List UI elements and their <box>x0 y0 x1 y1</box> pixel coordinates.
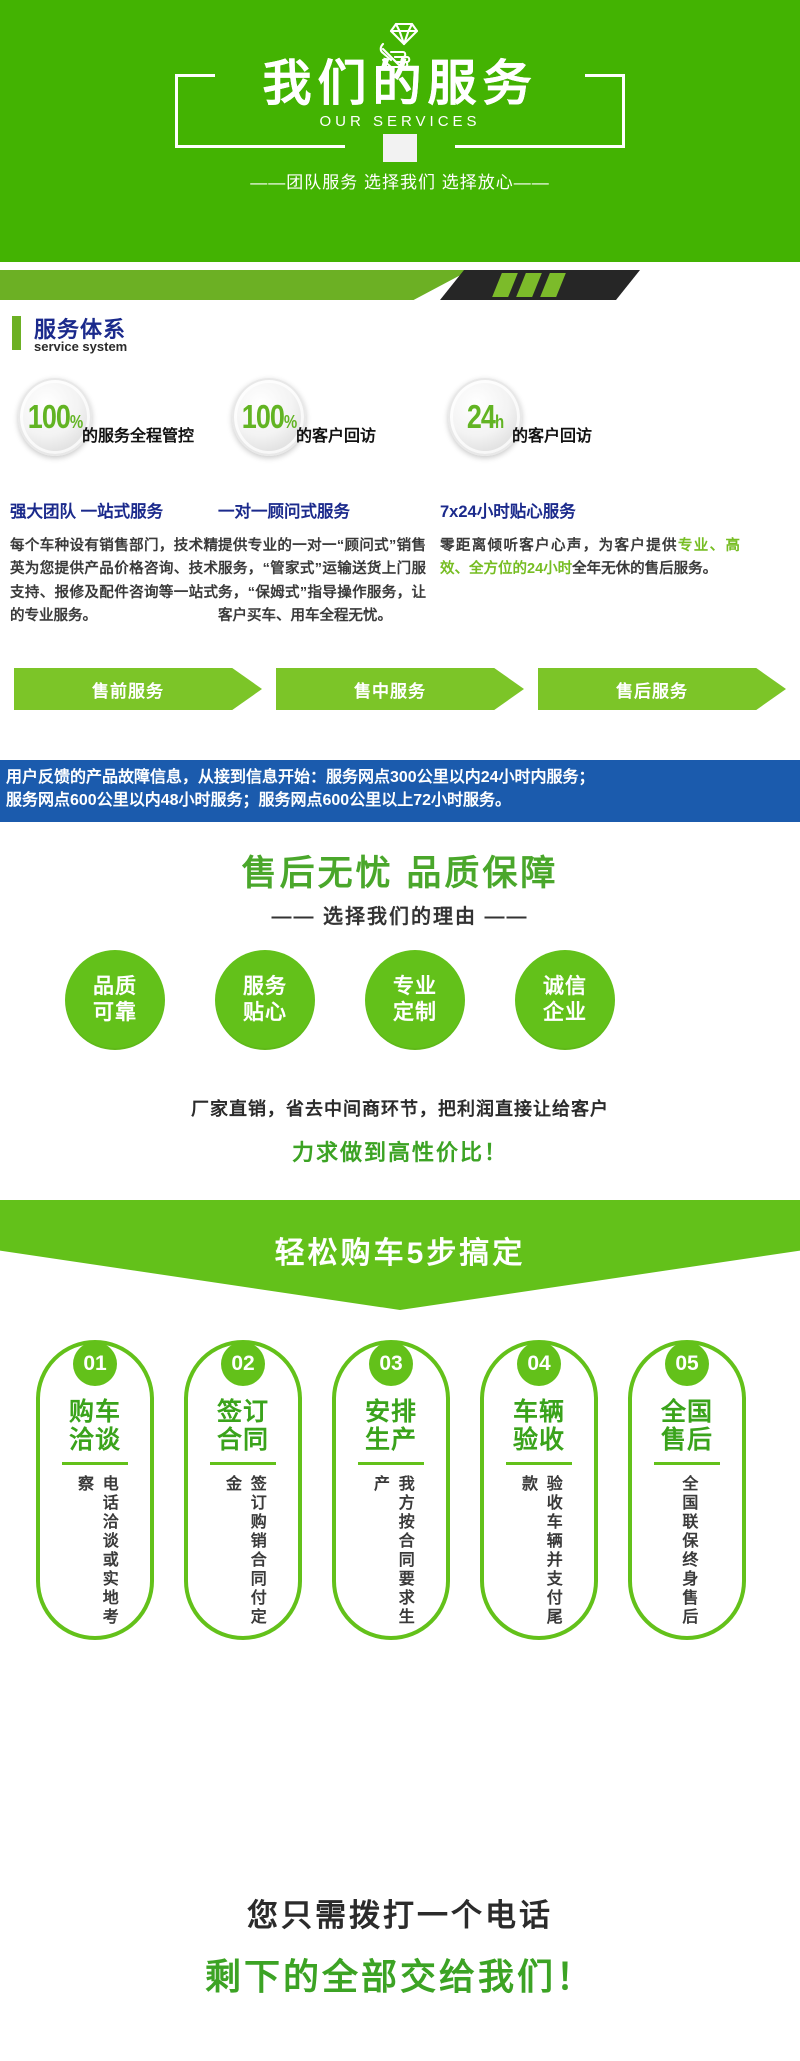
step-number: 04 <box>517 1342 561 1386</box>
step-title: 签订合同 <box>217 1398 269 1454</box>
section-accent-bar <box>12 316 21 350</box>
badge-label: 的客户回访 <box>296 422 376 446</box>
badge-row: 100% 的服务全程管控 100% 的客户回访 24h 的客户回访 <box>0 378 800 468</box>
reason-line-2: 企业 <box>543 1000 587 1026</box>
arrow-ribbon-row: 售前服务 售中服务 售后服务 <box>0 668 800 710</box>
ribbon-label: 售后服务 <box>616 677 688 702</box>
reason-line-1: 诚信 <box>543 974 587 1000</box>
step-pill-03[interactable]: 03 安排生产 我方按合同要求生产 <box>332 1340 450 1640</box>
step-title: 车辆验收 <box>513 1398 565 1454</box>
reason-line-2: 贴心 <box>243 1000 287 1026</box>
step-description: 签订购销合同付定金 <box>218 1475 268 1636</box>
factory-direct-line: 厂家直销，省去中间商环节，把利润直接让给客户 <box>0 1095 800 1121</box>
service-column: 一对一顾问式服务 提供专业的一对一“顾问式”销售服务，“管家式”运输送货上门服务… <box>218 498 426 629</box>
hero-title: 我们的服务 <box>0 60 800 109</box>
reason-circle-row: 品质 可靠 服务 贴心 专业 定制 诚信 企业 <box>0 950 800 1050</box>
step-description: 电话洽谈或实地考察 <box>70 1475 120 1636</box>
column-title: 一对一顾问式服务 <box>218 498 426 522</box>
step-number: 02 <box>221 1342 265 1386</box>
band-line-1: 用户反馈的产品故障信息，从接到信息开始：服务网点300公里以内24小时内服务； <box>6 767 794 790</box>
step-pill-row: 01 购车洽谈 电话洽谈或实地考察 02 签订合同 签订购销合同付定金 03 安… <box>0 1340 800 1810</box>
step-description: 全国联保终身售后 <box>675 1475 700 1627</box>
badge-circle: 100% <box>232 378 306 456</box>
step-pill-01[interactable]: 01 购车洽谈 电话洽谈或实地考察 <box>36 1340 154 1640</box>
step-number: 01 <box>73 1342 117 1386</box>
column-title: 7x24小时贴心服务 <box>440 498 740 522</box>
step-pill-05[interactable]: 05 全国售后 全国联保终身售后 <box>628 1340 746 1640</box>
step-divider <box>62 1462 128 1465</box>
step-number: 05 <box>665 1342 709 1386</box>
reason-line-2: 可靠 <box>93 1000 137 1026</box>
badge-number: 100% <box>28 400 82 434</box>
step-divider <box>506 1462 572 1465</box>
hero-subtitle: OUR SERVICES <box>0 113 800 130</box>
step-divider <box>358 1462 424 1465</box>
section-title-en: service system <box>34 339 127 354</box>
badge-label: 的服务全程管控 <box>82 422 194 446</box>
body-text: 全年无休的售后服务。 <box>572 561 717 577</box>
angled-divider <box>0 262 800 310</box>
reason-circle: 诚信 企业 <box>515 950 615 1050</box>
hero-slogan: ——团队服务 选择我们 选择放心—— <box>0 168 800 193</box>
column-body: 每个车种设有销售部门，技术精英为您提供产品价格咨询、技术支持、报修及配件咨询等一… <box>10 535 218 629</box>
reason-line-2: 定制 <box>393 1000 437 1026</box>
body-text: 零距离倾听客户心声，为客户提供 <box>440 538 678 554</box>
ribbon-label: 售前服务 <box>92 677 164 702</box>
service-column: 强大团队 一站式服务 每个车种设有销售部门，技术精英为您提供产品价格咨询、技术支… <box>10 498 218 629</box>
hero-box-notch <box>383 134 417 162</box>
ribbon-in-sales[interactable]: 售中服务 <box>276 668 524 710</box>
column-body: 零距离倾听客户心声，为客户提供专业、高效、全方位的24小时全年无休的售后服务。 <box>440 535 740 582</box>
service-radius-band: 用户反馈的产品故障信息，从接到信息开始：服务网点300公里以内24小时内服务； … <box>0 760 800 822</box>
badge-circle: 100% <box>18 378 92 456</box>
step-divider <box>654 1462 720 1465</box>
reason-circle: 品质 可靠 <box>65 950 165 1050</box>
badge-number: 24h <box>467 400 503 434</box>
step-description: 验收车辆并支付尾款 <box>514 1475 564 1636</box>
hero-banner: 我们的服务 OUR SERVICES ——团队服务 选择我们 选择放心—— <box>0 0 800 262</box>
ribbon-after-sales[interactable]: 售后服务 <box>538 668 786 710</box>
step-number: 03 <box>369 1342 413 1386</box>
reasons-title: 售后无忧 品质保障 <box>0 845 800 896</box>
step-divider <box>210 1462 276 1465</box>
reason-circle: 服务 贴心 <box>215 950 315 1050</box>
step-title: 安排生产 <box>365 1398 417 1454</box>
body-highlight: 24小时 <box>527 561 572 577</box>
reasons-subtitle: —— 选择我们的理由 —— <box>0 900 800 929</box>
footer-line-2: 剩下的全部交给我们！ <box>0 1948 800 2000</box>
step-title: 全国售后 <box>661 1398 713 1454</box>
service-column: 7x24小时贴心服务 零距离倾听客户心声，为客户提供专业、高效、全方位的24小时… <box>440 498 740 582</box>
reason-line-1: 专业 <box>393 974 437 1000</box>
band-line-2: 服务网点600公里以内48小时服务；服务网点600公里以上72小时服务。 <box>6 790 794 813</box>
ribbon-pre-sales[interactable]: 售前服务 <box>14 668 262 710</box>
badge-label: 的客户回访 <box>512 422 592 446</box>
column-body: 提供专业的一对一“顾问式”销售服务，“管家式”运输送货上门服务，“保姆式”指导操… <box>218 535 426 629</box>
reason-line-1: 服务 <box>243 974 287 1000</box>
reason-line-1: 品质 <box>93 974 137 1000</box>
steps-banner-title: 轻松购车5步搞定 <box>275 1228 526 1272</box>
reason-circle: 专业 定制 <box>365 950 465 1050</box>
column-title: 强大团队 一站式服务 <box>10 498 218 522</box>
divider-green-bar <box>0 270 470 300</box>
steps-banner: 轻松购车5步搞定 <box>0 1200 800 1310</box>
footer-line-1: 您只需拨打一个电话 <box>0 1890 800 1935</box>
ribbon-label: 售中服务 <box>354 677 426 702</box>
step-description: 我方按合同要求生产 <box>366 1475 416 1636</box>
value-for-money-line: 力求做到高性价比！ <box>0 1135 800 1167</box>
step-pill-02[interactable]: 02 签订合同 签订购销合同付定金 <box>184 1340 302 1640</box>
badge-number: 100% <box>242 400 296 434</box>
step-title: 购车洽谈 <box>69 1398 121 1454</box>
badge-circle: 24h <box>448 378 522 456</box>
step-pill-04[interactable]: 04 车辆验收 验收车辆并支付尾款 <box>480 1340 598 1640</box>
